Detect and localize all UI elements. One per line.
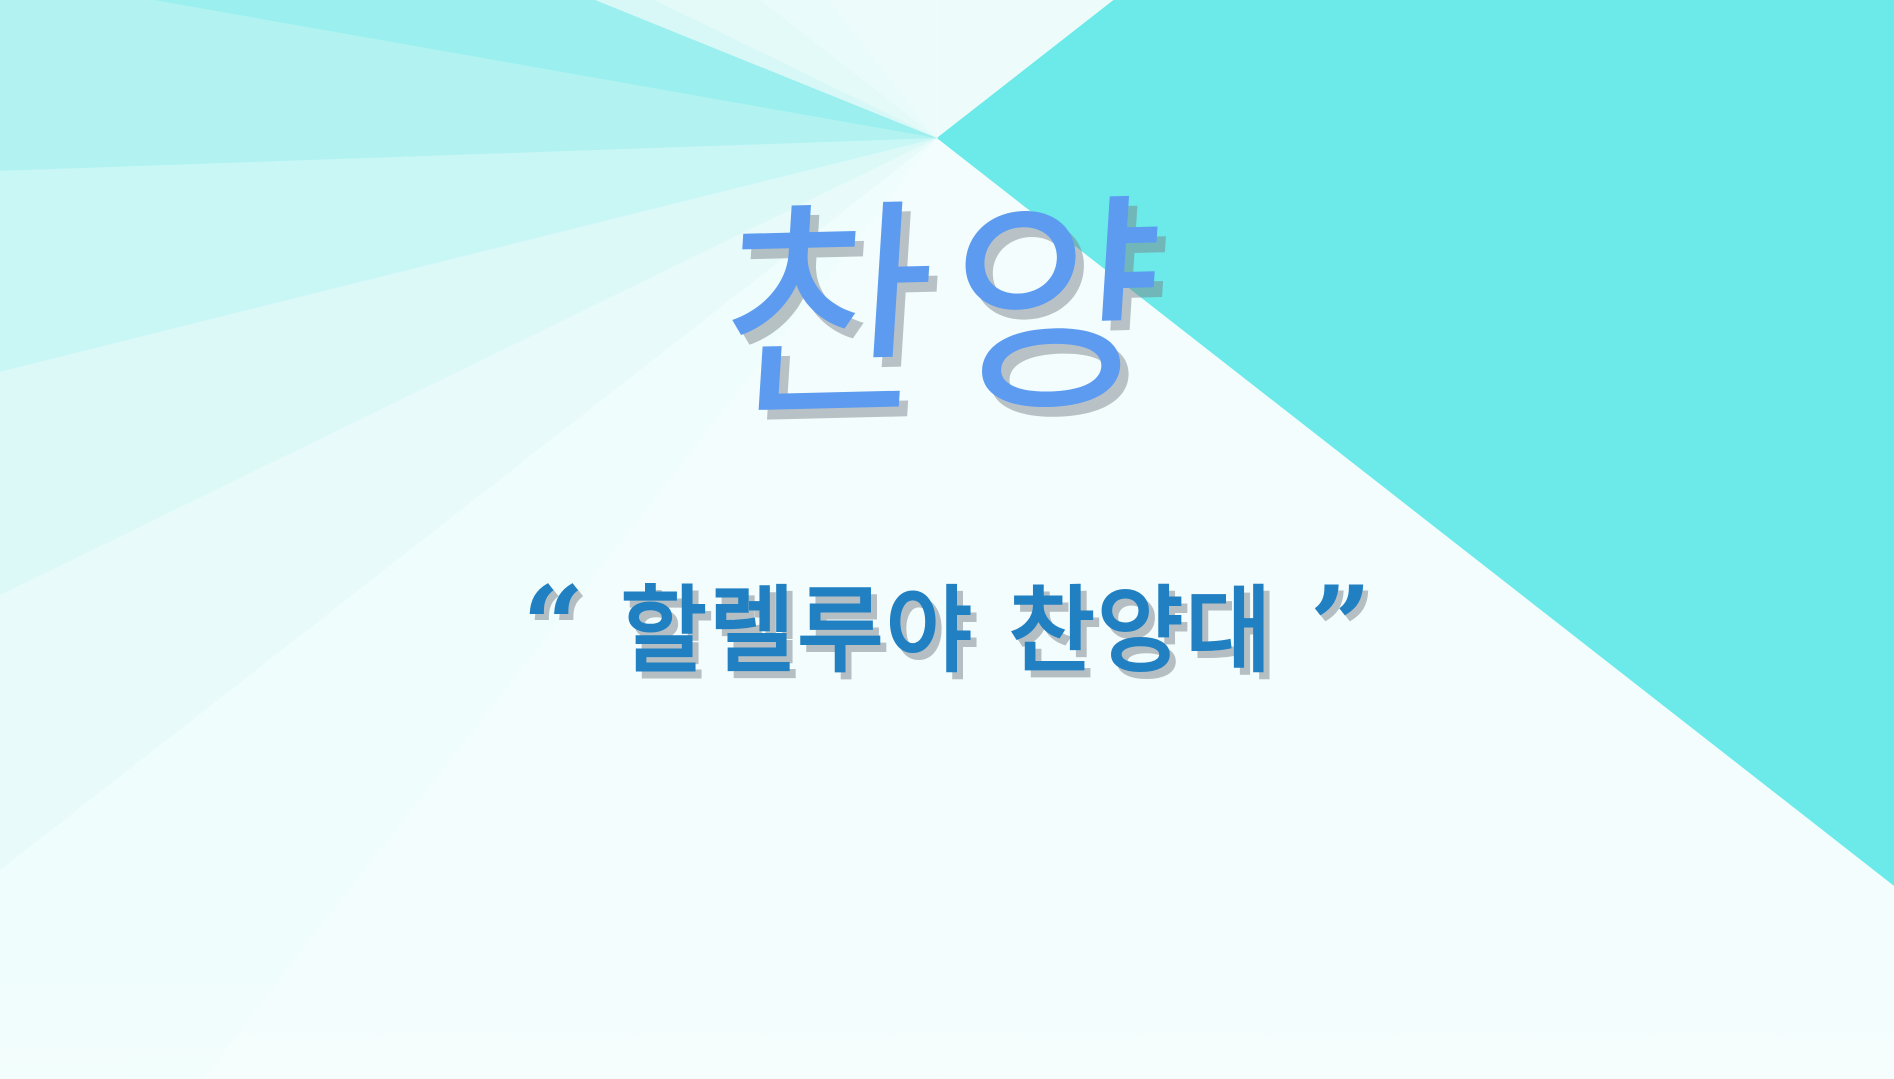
ray-center-seam bbox=[937, 0, 938, 1079]
background-rays bbox=[0, 0, 1894, 1079]
title-slide: 찬양 “ 할렐루야 찬양대 ” bbox=[0, 0, 1894, 1079]
